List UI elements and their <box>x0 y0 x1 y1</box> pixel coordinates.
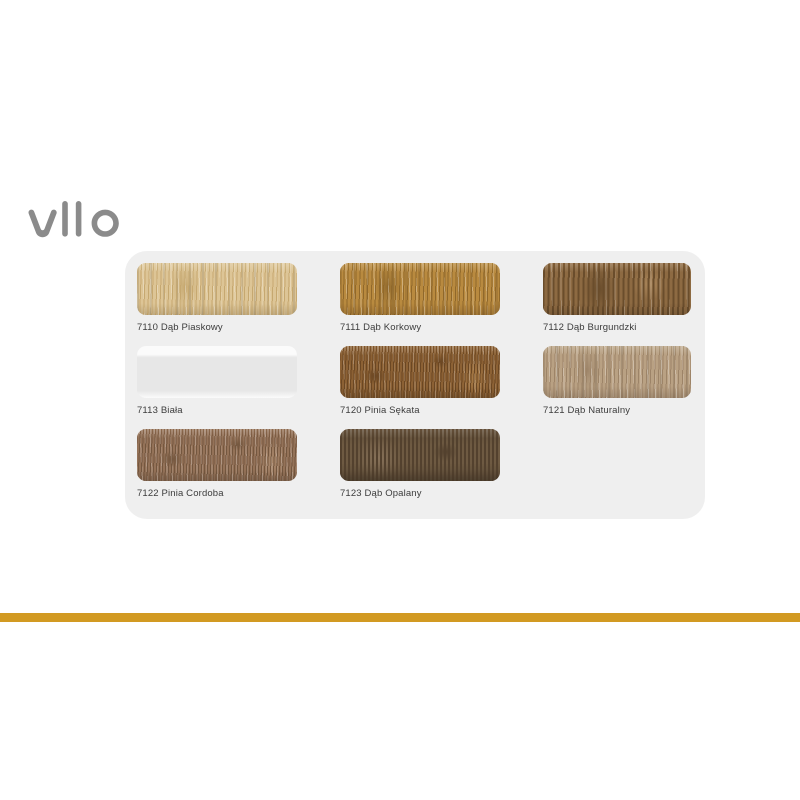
swatch-chip-7111[interactable] <box>340 263 500 315</box>
swatch-label: 7122 Pinia Cordoba <box>137 488 328 500</box>
swatch-chip-7110[interactable] <box>137 263 297 315</box>
wood-grain-texture <box>543 263 691 315</box>
accent-bar <box>0 613 800 622</box>
swatch-item-7122[interactable]: 7122 Pinia Cordoba <box>137 429 340 512</box>
swatch-label: 7110 Dąb Piaskowy <box>137 322 328 334</box>
swatch-item-7120[interactable]: 7120 Pinia Sękata <box>340 346 543 429</box>
swatch-label: 7123 Dąb Opalany <box>340 488 531 500</box>
wood-grain-texture <box>340 346 500 398</box>
swatch-item-7121[interactable]: 7121 Dąb Naturalny <box>543 346 703 429</box>
swatch-chip-7121[interactable] <box>543 346 691 398</box>
swatch-label: 7121 Dąb Naturalny <box>543 405 691 417</box>
swatch-chip-7122[interactable] <box>137 429 297 481</box>
wood-grain-texture <box>137 429 297 481</box>
swatch-item-7111[interactable]: 7111 Dąb Korkowy <box>340 263 543 346</box>
swatch-chip-7113[interactable] <box>137 346 297 398</box>
swatch-item-7110[interactable]: 7110 Dąb Piaskowy <box>137 263 340 346</box>
swatch-item-7123[interactable]: 7123 Dąb Opalany <box>340 429 543 512</box>
swatch-label: 7111 Dąb Korkowy <box>340 322 531 334</box>
swatch-chip-7112[interactable] <box>543 263 691 315</box>
swatch-item-7113[interactable]: 7113 Biała <box>137 346 340 429</box>
swatch-label: 7120 Pinia Sękata <box>340 405 531 417</box>
decor-swatch-panel: 7110 Dąb Piaskowy 7111 Dąb Korkowy 7112 … <box>125 251 705 519</box>
swatch-label: 7113 Biała <box>137 405 328 417</box>
decor-swatch-grid: 7110 Dąb Piaskowy 7111 Dąb Korkowy 7112 … <box>137 263 691 512</box>
wood-grain-texture <box>543 346 691 398</box>
wood-grain-texture <box>137 346 297 398</box>
wood-grain-texture <box>137 263 297 315</box>
swatch-chip-7120[interactable] <box>340 346 500 398</box>
swatch-label: 7112 Dąb Burgundzki <box>543 322 691 334</box>
swatch-chip-7123[interactable] <box>340 429 500 481</box>
swatch-item-7112[interactable]: 7112 Dąb Burgundzki <box>543 263 703 346</box>
wood-grain-texture <box>340 429 500 481</box>
brand-logo <box>26 198 122 248</box>
wood-grain-texture <box>340 263 500 315</box>
vilo-wordmark-icon <box>29 201 119 237</box>
